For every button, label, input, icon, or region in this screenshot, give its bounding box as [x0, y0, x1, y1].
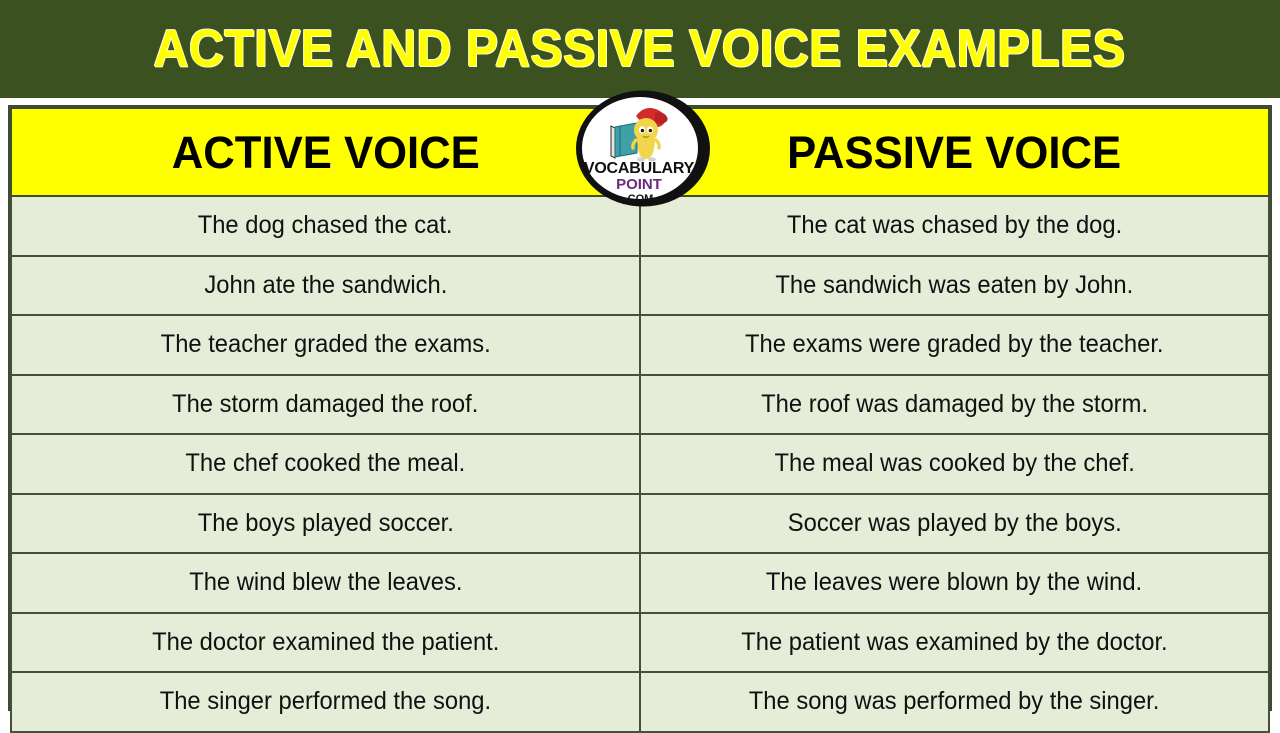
infographic-page: ACTIVE AND PASSIVE VOICE EXAMPLES ACTIVE…: [0, 0, 1280, 720]
cell-passive-voice: The leaves were blown by the wind.: [640, 553, 1269, 613]
vocabulary-point-logo[interactable]: VOCABULARY POINT .COM: [575, 90, 711, 207]
cell-passive-voice: The sandwich was eaten by John.: [640, 256, 1269, 316]
table-row: The teacher graded the exams. The exams …: [11, 315, 1269, 375]
table-row: The doctor examined the patient. The pat…: [11, 613, 1269, 673]
book-icon: [611, 123, 637, 158]
table-row: The storm damaged the roof. The roof was…: [11, 375, 1269, 435]
cell-text: Soccer was played by the boys.: [787, 510, 1121, 538]
cell-text: The wind blew the leaves.: [189, 569, 462, 597]
logo-line2: POINT: [616, 176, 662, 193]
logo-line3: .COM: [625, 193, 654, 205]
cell-active-voice: The doctor examined the patient.: [11, 613, 640, 673]
cell-passive-voice: The patient was examined by the doctor.: [640, 613, 1269, 673]
cell-text: The chef cooked the meal.: [186, 450, 466, 478]
cell-passive-voice: The cat was chased by the dog.: [640, 196, 1269, 256]
cell-text: The storm damaged the roof.: [172, 391, 478, 419]
logo-line1: VOCABULARY: [584, 160, 695, 177]
cell-passive-voice: The roof was damaged by the storm.: [640, 375, 1269, 435]
cell-text: John ate the sandwich.: [204, 272, 447, 300]
cell-text: The dog chased the cat.: [198, 212, 453, 240]
cell-text: The leaves were blown by the wind.: [766, 569, 1142, 597]
cell-active-voice: The singer performed the song.: [11, 672, 640, 732]
cell-text: The doctor examined the patient.: [152, 629, 499, 657]
cell-passive-voice: The meal was cooked by the chef.: [640, 434, 1269, 494]
table-row: John ate the sandwich. The sandwich was …: [11, 256, 1269, 316]
cell-text: The meal was cooked by the chef.: [774, 450, 1134, 478]
column-header-passive-voice: PASSIVE VOICE: [640, 108, 1269, 196]
cell-active-voice: The dog chased the cat.: [11, 196, 640, 256]
cell-passive-voice: The song was performed by the singer.: [640, 672, 1269, 732]
cell-text: The teacher graded the exams.: [160, 331, 490, 359]
table-row: The wind blew the leaves. The leaves wer…: [11, 553, 1269, 613]
table-row: The singer performed the song. The song …: [11, 672, 1269, 732]
cell-text: The singer performed the song.: [160, 688, 491, 716]
cell-active-voice: The chef cooked the meal.: [11, 434, 640, 494]
cell-active-voice: The boys played soccer.: [11, 494, 640, 554]
cell-active-voice: The wind blew the leaves.: [11, 553, 640, 613]
page-title: ACTIVE AND PASSIVE VOICE EXAMPLES: [154, 23, 1126, 75]
cell-text: The song was performed by the singer.: [749, 688, 1160, 716]
column-header-active-voice: ACTIVE VOICE: [11, 108, 640, 196]
table-row: The chef cooked the meal. The meal was c…: [11, 434, 1269, 494]
cell-text: The boys played soccer.: [197, 510, 453, 538]
cell-text: The patient was examined by the doctor.: [741, 629, 1167, 657]
cell-text: The roof was damaged by the storm.: [761, 391, 1148, 419]
column-header-passive-voice-label: PASSIVE VOICE: [788, 130, 1122, 175]
title-banner: ACTIVE AND PASSIVE VOICE EXAMPLES: [0, 0, 1280, 98]
cell-passive-voice: Soccer was played by the boys.: [640, 494, 1269, 554]
cell-active-voice: The teacher graded the exams.: [11, 315, 640, 375]
cell-text: The exams were graded by the teacher.: [745, 331, 1164, 359]
cell-active-voice: The storm damaged the roof.: [11, 375, 640, 435]
cell-text: The cat was chased by the dog.: [787, 212, 1122, 240]
table-row: The boys played soccer. Soccer was playe…: [11, 494, 1269, 554]
cell-text: The sandwich was eaten by John.: [776, 272, 1134, 300]
column-header-active-voice-label: ACTIVE VOICE: [171, 130, 479, 175]
cell-passive-voice: The exams were graded by the teacher.: [640, 315, 1269, 375]
cell-active-voice: John ate the sandwich.: [11, 256, 640, 316]
table-body: The dog chased the cat. The cat was chas…: [11, 196, 1269, 732]
